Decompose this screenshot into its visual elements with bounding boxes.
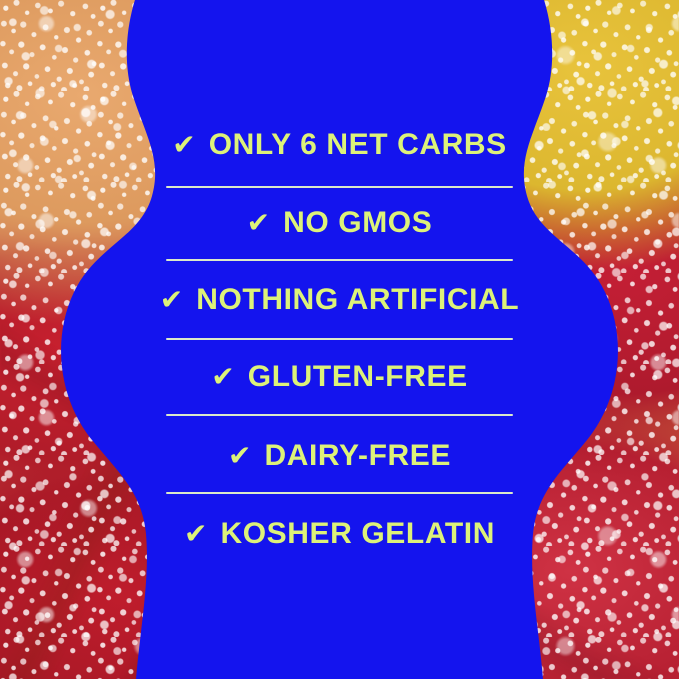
checkmark-icon: ✔ bbox=[211, 363, 234, 391]
claim-divider-1 bbox=[166, 186, 513, 188]
claim-label-dairy-free: DAIRY-FREE bbox=[264, 441, 451, 471]
claim-row-no-gmos: ✔ NO GMOS bbox=[0, 203, 679, 243]
claim-row-net-carbs: ✔ ONLY 6 NET CARBS bbox=[0, 125, 679, 165]
claim-label-nothing-artificial: NOTHING ARTIFICIAL bbox=[196, 285, 519, 315]
checkmark-icon: ✔ bbox=[247, 209, 270, 237]
checkmark-icon: ✔ bbox=[228, 442, 251, 470]
product-badge-image: ✔ ONLY 6 NET CARBS ✔ NO GMOS ✔ NOTHING A… bbox=[0, 0, 679, 679]
claim-divider-5 bbox=[166, 492, 513, 494]
claim-row-gluten-free: ✔ GLUTEN-FREE bbox=[0, 357, 679, 397]
checkmark-icon: ✔ bbox=[172, 131, 195, 159]
claim-row-nothing-artificial: ✔ NOTHING ARTIFICIAL bbox=[0, 280, 679, 320]
checkmark-icon: ✔ bbox=[184, 520, 207, 548]
claim-divider-3 bbox=[166, 338, 513, 340]
claim-label-no-gmos: NO GMOS bbox=[283, 208, 432, 238]
claim-row-dairy-free: ✔ DAIRY-FREE bbox=[0, 436, 679, 476]
claim-label-kosher-gelatin: KOSHER GELATIN bbox=[220, 519, 495, 549]
claims-list: ✔ ONLY 6 NET CARBS ✔ NO GMOS ✔ NOTHING A… bbox=[0, 0, 679, 679]
claim-divider-4 bbox=[166, 414, 513, 416]
checkmark-icon: ✔ bbox=[160, 286, 183, 314]
claim-row-kosher-gelatin: ✔ KOSHER GELATIN bbox=[0, 514, 679, 554]
claim-label-net-carbs: ONLY 6 NET CARBS bbox=[209, 130, 507, 160]
claim-divider-2 bbox=[166, 259, 513, 261]
claim-label-gluten-free: GLUTEN-FREE bbox=[248, 362, 468, 392]
